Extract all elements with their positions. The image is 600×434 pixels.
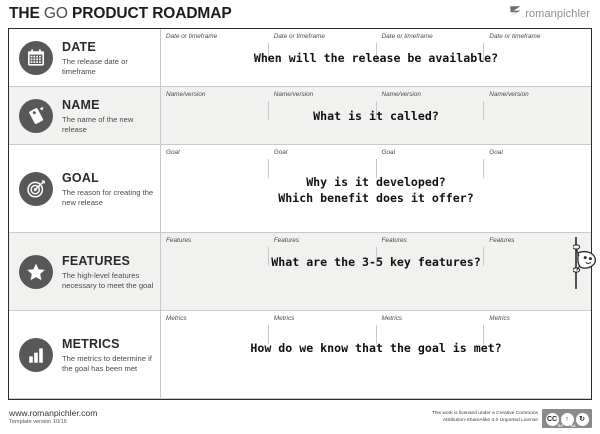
row-desc-date: The release date or timeframe [62,57,154,78]
license-text: This work is licensed under a Creative C… [432,410,538,425]
row-title-goal: GOAL [62,171,99,185]
roadmap-row-date: DATEThe release date or timeframeDate or… [9,29,591,87]
cell-hint-date-col3: Date or timeframe [382,33,433,40]
row-label-text-features: FEATURESThe high-level features necessar… [62,252,154,292]
bar-chart-icon [19,338,53,372]
cell-name-col1[interactable]: Name/version [161,87,269,144]
peeking-face-doodle-icon [573,237,600,289]
romanpichler-r-mark-icon [509,5,522,24]
row-title-date: DATE [62,40,96,54]
row-label-text-goal: GOALThe reason for creating the new rele… [62,169,154,209]
calendar-icon [19,41,53,75]
cell-name-col4[interactable]: Name/version [484,87,591,144]
row-desc-features: The high-level features necessary to mee… [62,271,154,292]
cell-hint-goal-col2: Goal [274,149,288,156]
cell-hint-name-col3: Name/version [382,91,421,98]
cell-hint-goal-col1: Goal [166,149,180,156]
cell-hint-features-col4: Features [489,237,514,244]
roadmap-row-metrics: METRICSThe metrics to determine if the g… [9,311,591,399]
row-label-features: FEATURESThe high-level features necessar… [9,233,161,310]
roadmap-row-features: FEATURESThe high-level features necessar… [9,233,591,311]
cell-features-col3[interactable]: Features [377,233,485,310]
cell-goal-col2[interactable]: Goal [269,145,377,232]
row-desc-name: The name of the new release [62,115,154,136]
row-label-name: NAMEThe name of the new release [9,87,161,144]
cc-by-label: BY [558,424,563,428]
tag-icon [19,99,53,133]
cell-hint-features-col2: Features [274,237,299,244]
cell-metrics-col1[interactable]: Metrics [161,311,269,398]
page-title: THE GO PRODUCT ROADMAP [9,5,232,23]
star-icon [19,255,53,289]
roadmap-row-name: NAMEThe name of the new releaseName/vers… [9,87,591,145]
row-desc-goal: The reason for creating the new release [62,188,154,209]
cell-hint-metrics-col3: Metrics [382,315,403,322]
brand-logo[interactable]: romanpichler [509,5,590,24]
cell-hint-date-col4: Date or timeframe [489,33,540,40]
row-title-metrics: METRICS [62,337,120,351]
cc-sa-label: SA [571,424,576,428]
cell-metrics-col3[interactable]: Metrics [377,311,485,398]
row-label-goal: GOALThe reason for creating the new rele… [9,145,161,232]
cell-date-col1[interactable]: Date or timeframe [161,29,269,86]
cell-metrics-col4[interactable]: Metrics [484,311,591,398]
cell-hint-name-col1: Name/version [166,91,205,98]
cell-goal-col4[interactable]: Goal [484,145,591,232]
page-header: THE GO PRODUCT ROADMAP romanpichler [0,0,600,28]
title-the: THE [9,5,44,22]
cell-hint-goal-col3: Goal [382,149,396,156]
cell-name-col3[interactable]: Name/version [377,87,485,144]
cell-features-col2[interactable]: Features [269,233,377,310]
template-version: Template version 10/16 [9,419,67,425]
row-label-text-metrics: METRICSThe metrics to determine if the g… [62,335,154,375]
title-product-roadmap: PRODUCT ROADMAP [72,5,232,22]
target-icon [19,172,53,206]
row-label-metrics: METRICSThe metrics to determine if the g… [9,311,161,398]
roadmap-poster: THE GO PRODUCT ROADMAP romanpichler [0,0,600,434]
cell-hint-goal-col4: Goal [489,149,503,156]
row-label-text-date: DATEThe release date or timeframe [62,38,154,78]
cell-name-col2[interactable]: Name/version [269,87,377,144]
license-line-1: This work is licensed under a Creative C… [432,410,538,417]
cell-hint-metrics-col2: Metrics [274,315,295,322]
website-link[interactable]: www.romanpichler.com [9,408,97,418]
cell-features-col1[interactable]: Features [161,233,269,310]
title-go: GO [44,5,72,22]
cell-hint-name-col2: Name/version [274,91,313,98]
cell-date-col2[interactable]: Date or timeframe [269,29,377,86]
cell-goal-col1[interactable]: Goal [161,145,269,232]
row-desc-metrics: The metrics to determine if the goal has… [62,354,154,375]
creative-commons-badge[interactable]: CC ↑ ↻ BY SA [542,409,592,428]
roadmap-board: DATEThe release date or timeframeDate or… [8,28,592,400]
cell-hint-date-col1: Date or timeframe [166,33,217,40]
license-line-2: Attribution-ShareAlike 3.0 Unported Lice… [432,417,538,424]
cell-hint-features-col3: Features [382,237,407,244]
cell-goal-col3[interactable]: Goal [377,145,485,232]
cc-badge-labels: BY SA [542,424,592,428]
row-title-features: FEATURES [62,254,130,268]
page-footer: www.romanpichler.com Template version 10… [0,404,600,434]
cell-date-col3[interactable]: Date or timeframe [377,29,485,86]
cell-hint-date-col2: Date or timeframe [274,33,325,40]
brand-name: romanpichler [525,8,590,20]
row-title-name: NAME [62,98,100,112]
cell-hint-name-col4: Name/version [489,91,528,98]
cell-metrics-col2[interactable]: Metrics [269,311,377,398]
cell-hint-metrics-col1: Metrics [166,315,187,322]
row-label-text-name: NAMEThe name of the new release [62,96,154,136]
cell-hint-features-col1: Features [166,237,191,244]
row-label-date: DATEThe release date or timeframe [9,29,161,86]
cell-hint-metrics-col4: Metrics [489,315,510,322]
roadmap-row-goal: GOALThe reason for creating the new rele… [9,145,591,233]
cell-date-col4[interactable]: Date or timeframe [484,29,591,86]
